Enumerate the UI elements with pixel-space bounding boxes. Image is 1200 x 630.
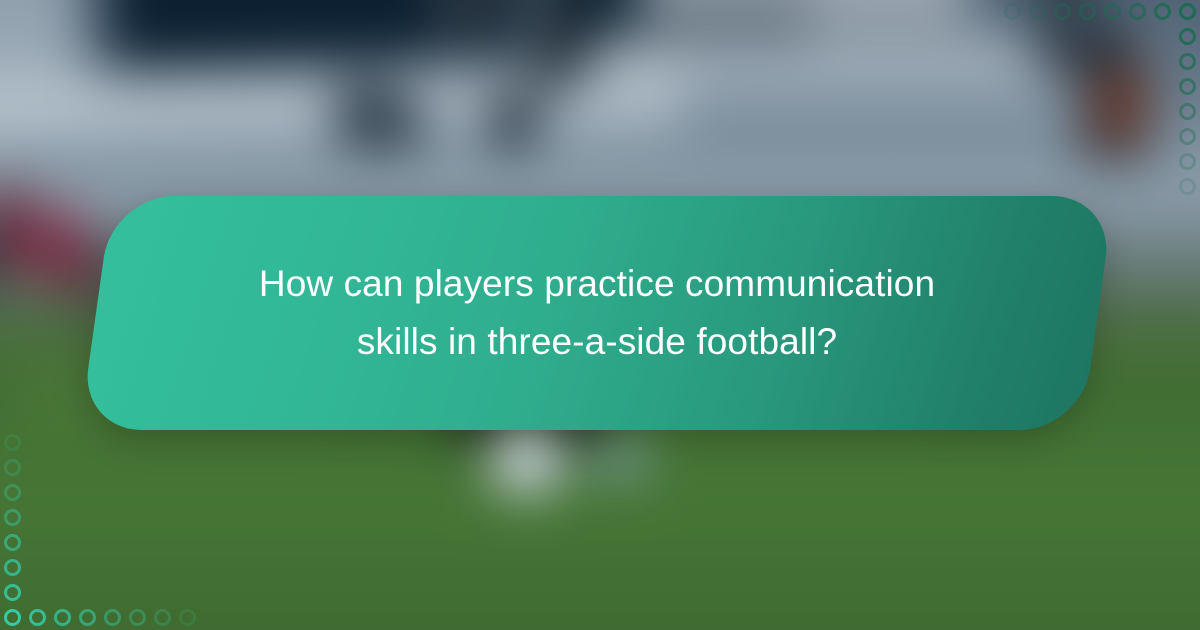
decoration-dot	[154, 609, 171, 626]
question-card: How can players practice communication s…	[96, 196, 1098, 430]
decoration-dot	[1179, 53, 1196, 70]
decoration-dot	[1079, 3, 1096, 20]
question-card-content: How can players practice communication s…	[96, 196, 1098, 430]
decoration-dot	[4, 484, 21, 501]
decoration-dot	[4, 584, 21, 601]
decoration-dot	[4, 509, 21, 526]
decoration-dot	[1104, 3, 1121, 20]
decoration-dot	[1179, 153, 1196, 170]
decoration-dot	[1179, 128, 1196, 145]
decoration-dots-right-column	[1179, 3, 1196, 195]
decoration-dot	[29, 609, 46, 626]
decoration-dot	[1179, 78, 1196, 95]
decoration-dot	[129, 609, 146, 626]
decoration-dot	[4, 609, 21, 626]
decoration-dot	[1129, 3, 1146, 20]
decoration-dot	[1054, 3, 1071, 20]
decoration-dot	[79, 609, 96, 626]
decoration-dot	[4, 534, 21, 551]
social-card-canvas: How can players practice communication s…	[0, 0, 1200, 630]
decoration-dots-left-column	[4, 434, 21, 626]
decoration-dot	[54, 609, 71, 626]
decoration-dot	[4, 559, 21, 576]
decoration-dots-top-row	[1004, 3, 1196, 20]
decoration-dot	[1179, 28, 1196, 45]
decoration-dot	[1004, 3, 1021, 20]
decoration-dot	[4, 459, 21, 476]
decoration-dot	[179, 609, 196, 626]
decoration-dot	[1154, 3, 1171, 20]
decoration-dot	[4, 434, 21, 451]
decoration-dot	[1029, 3, 1046, 20]
decoration-dot	[1179, 103, 1196, 120]
decoration-dot	[1179, 178, 1196, 195]
decoration-dot	[104, 609, 121, 626]
decoration-dots-bottom-row	[4, 609, 196, 626]
question-text: How can players practice communication s…	[232, 255, 962, 372]
